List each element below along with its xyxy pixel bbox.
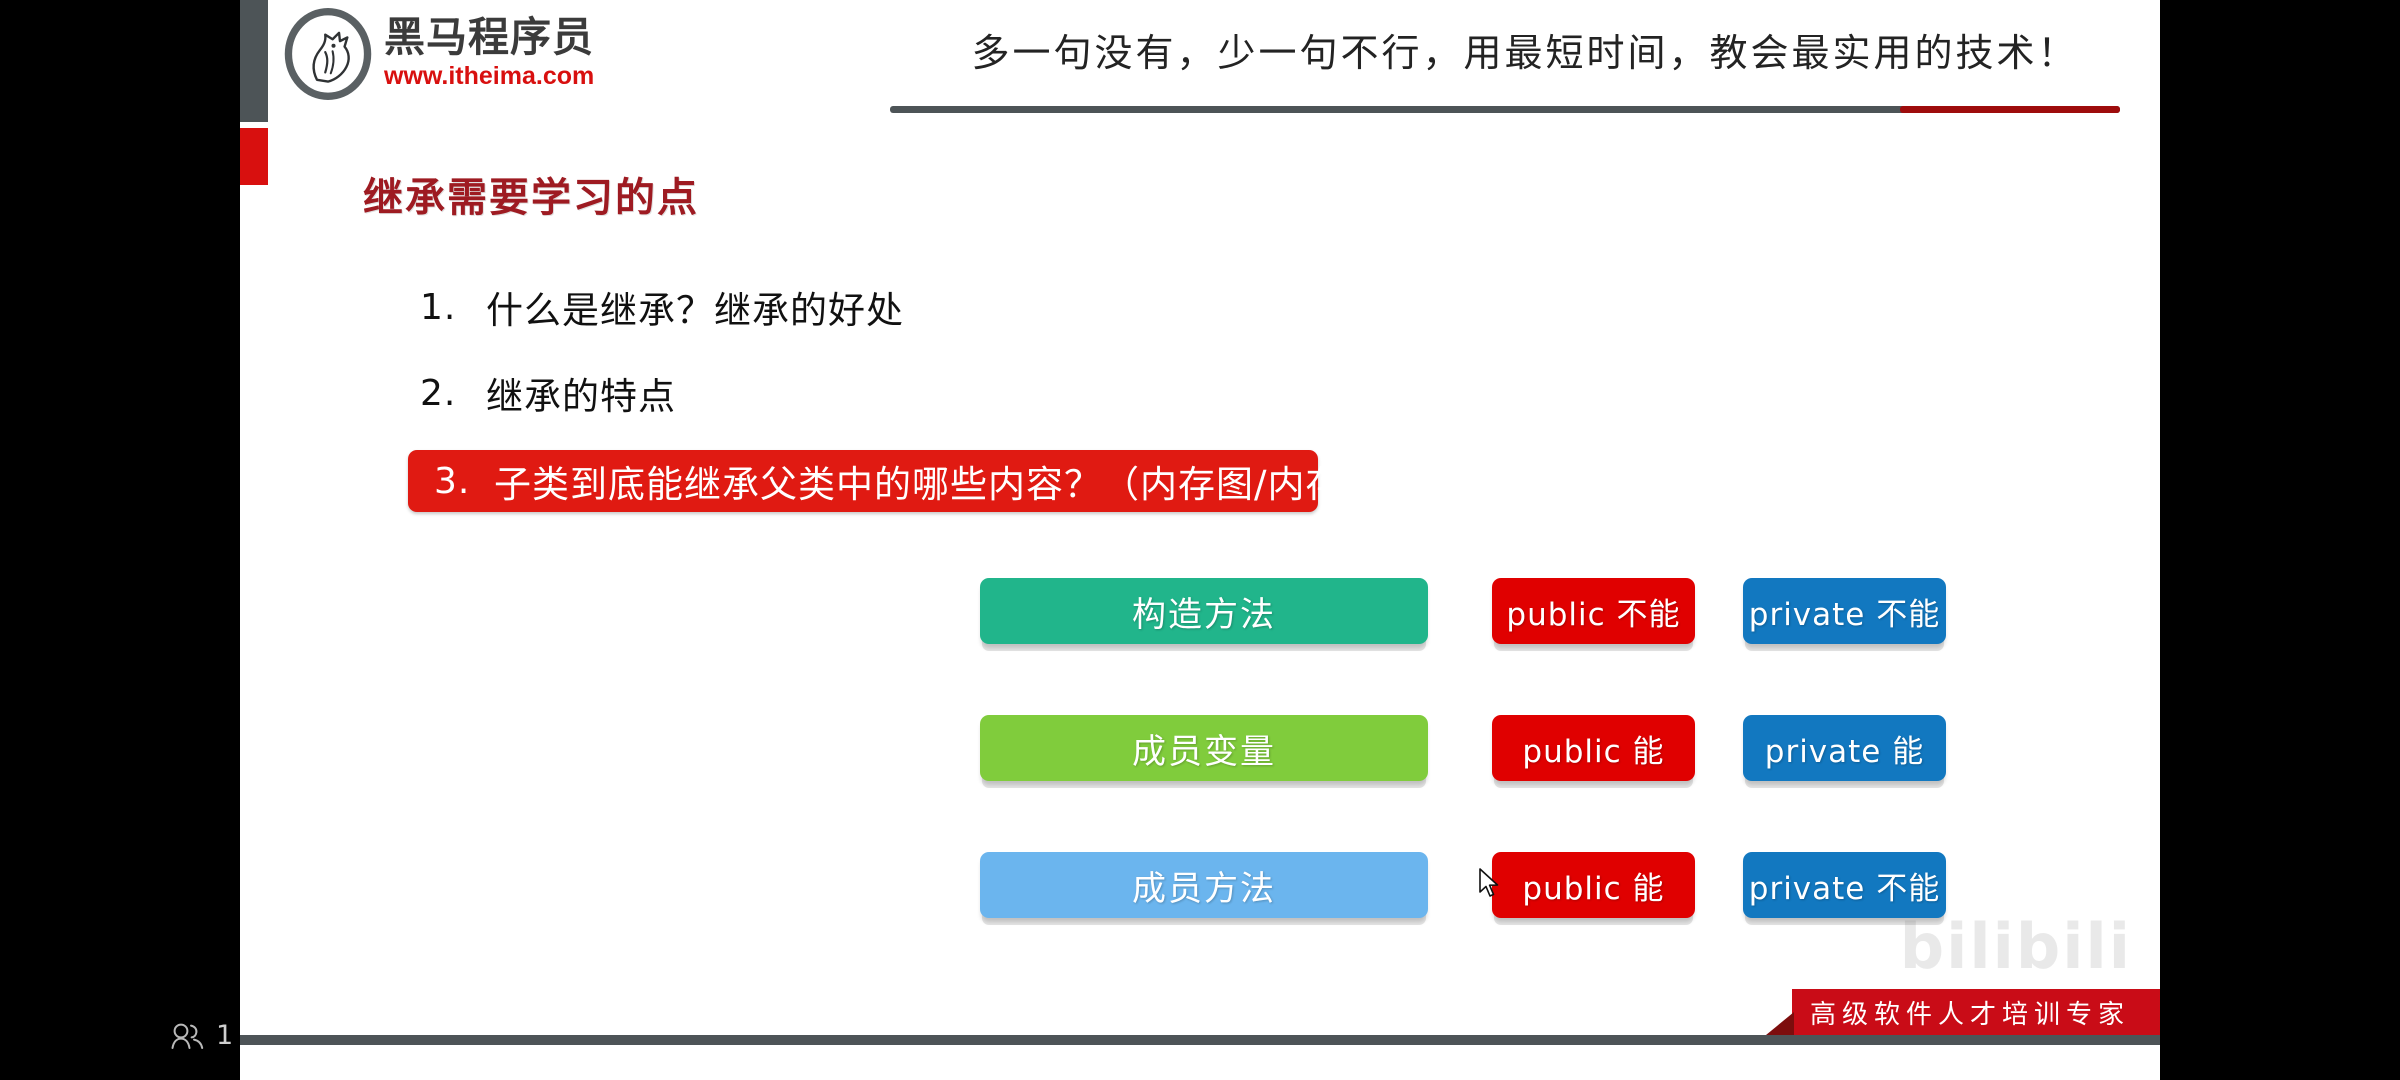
chip-private-constructor: private 不能 [1743,578,1946,644]
bilibili-watermark: bilibili [1900,910,2132,983]
slide-header: 黑马程序员 www.itheima.com 多一句没有，少一句不行，用最短时间，… [240,0,2160,130]
viewers-icon [170,1021,206,1051]
video-player: 黑马程序员 www.itheima.com 多一句没有，少一句不行，用最短时间，… [0,0,2400,1080]
chip-public-member-variable: public 能 [1492,715,1695,781]
list-item-2-number: 2. [420,373,486,414]
chip-public-member-method: public 能 [1492,852,1695,918]
list-item-1: 1. 什么是继承？继承的好处 [420,278,1720,336]
viewers-indicator: 1 [170,1020,233,1051]
list-item-2: 2. 继承的特点 [420,364,1720,422]
brand-logo: 黑马程序员 www.itheima.com [282,8,594,100]
viewers-count: 1 [216,1020,233,1051]
matrix-row-member-method: 成员方法 public 能 private 不能 [980,852,1946,918]
list-item-1-number: 1. [420,287,486,328]
chip-public-constructor: public 不能 [1492,578,1695,644]
header-divider-red-tip [1900,106,2120,113]
brand-name: 黑马程序员 [384,15,594,61]
list-item-3-highlighted: 3. 子类到底能继承父类中的哪些内容？（内存图/内存分析工具） [408,450,1318,512]
footer-ribbon: 高级软件人才培训专家 [1736,989,2160,1035]
matrix-row-member-variable: 成员变量 public 能 private 能 [980,715,1946,781]
list-item-3-number: 3. [434,461,494,502]
matrix-row-constructor: 构造方法 public 不能 private 不能 [980,578,1946,644]
chip-private-member-method: private 不能 [1743,852,1946,918]
horse-head-logo-icon [282,8,374,100]
slide-content: 黑马程序员 www.itheima.com 多一句没有，少一句不行，用最短时间，… [240,0,2160,1035]
chip-private-member-variable: private 能 [1743,715,1946,781]
list-item-1-label: 什么是继承？继承的好处 [486,280,904,334]
inheritance-matrix: 构造方法 public 不能 private 不能 成员变量 public 能 … [980,578,1946,918]
header-gray-accent-bar [240,0,268,122]
list-item-3-label: 子类到底能继承父类中的哪些内容？（内存图/内存分析工具） [494,454,1533,508]
list-item-2-label: 继承的特点 [486,366,676,420]
chip-topic-member-variable: 成员变量 [980,715,1428,781]
chip-topic-member-method: 成员方法 [980,852,1428,918]
chip-topic-constructor: 构造方法 [980,578,1428,644]
slide-title: 继承需要学习的点 [363,165,699,223]
topic-list: 1. 什么是继承？继承的好处 2. 继承的特点 3. 子类到底能继承父类中的哪些… [420,278,1720,450]
brand-url: www.itheima.com [384,63,594,91]
brand-slogan: 多一句没有，少一句不行，用最短时间，教会最实用的技术！ [930,22,2120,77]
header-red-accent-bar [240,128,268,185]
ribbon-label: 高级软件人才培训专家 [1792,989,2160,1035]
ribbon-notch [1738,966,1794,1035]
player-progress-bar[interactable] [240,1035,2160,1045]
